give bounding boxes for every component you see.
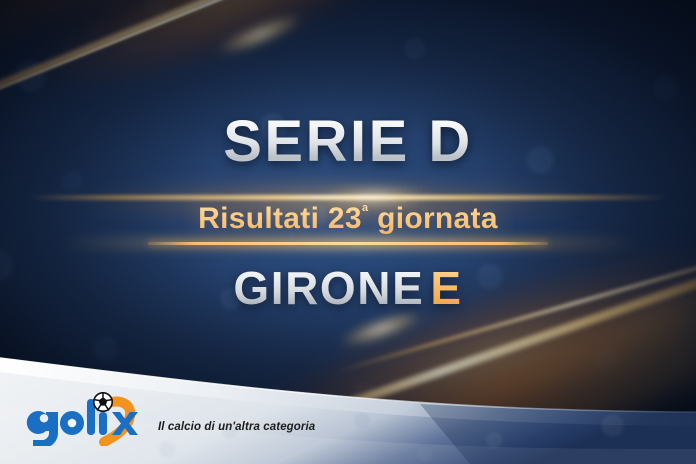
subtitle-underline: [148, 242, 548, 245]
golix-wordmark[interactable]: [26, 390, 144, 446]
logo-letter-o-inner: [68, 419, 77, 428]
group-word: GIRONE: [233, 262, 424, 314]
subtitle-number: 23: [328, 202, 362, 235]
subtitle: Risultati 23ª giornata: [198, 203, 498, 237]
logo-letter-i-stem: [99, 412, 107, 435]
brand-tagline: Il calcio di un'altra categoria: [158, 421, 315, 433]
group-letter: E: [424, 262, 462, 314]
golix-logo-svg: [26, 390, 144, 446]
group-title: GIRONEE: [0, 265, 696, 311]
page-title: SERIE D: [0, 113, 696, 171]
brand-logo[interactable]: Il calcio di un'altra categoria: [26, 390, 315, 446]
subtitle-suffix: giornata: [368, 202, 497, 235]
logo-letter-g: [27, 411, 58, 446]
subtitle-wrapper: Risultati 23ª giornata: [0, 203, 696, 237]
soccer-ball-icon: [94, 393, 112, 411]
graphic-canvas: SERIE D Risultati 23ª giornata GIRONEE: [0, 0, 696, 464]
subtitle-prefix: Risultati: [198, 202, 328, 235]
